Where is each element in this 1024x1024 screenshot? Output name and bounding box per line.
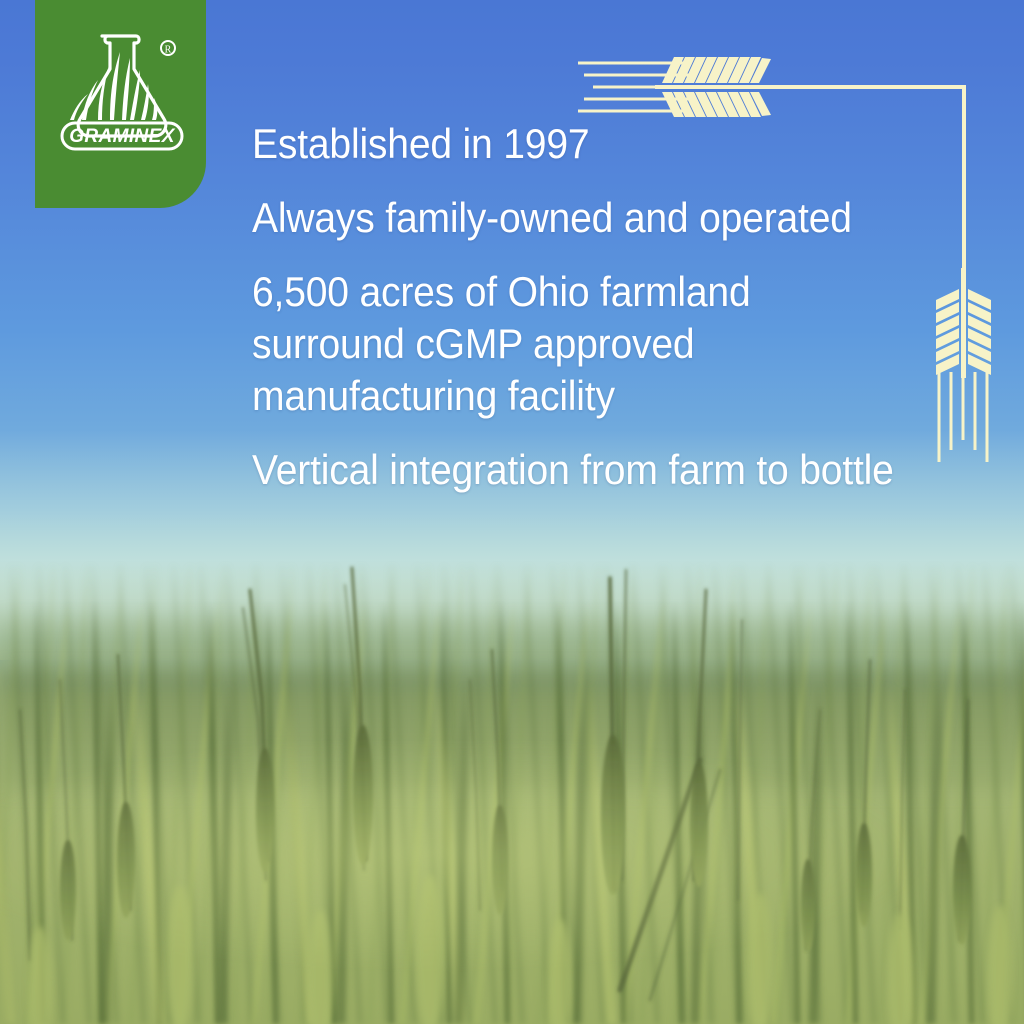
field-sun-glow [0, 740, 1024, 1024]
fact-established: Established in 1997 [252, 118, 903, 170]
fact-acreage: 6,500 acres of Ohio farmland surround cG… [252, 266, 903, 422]
brand-name-text: GRAMINEX [69, 126, 176, 147]
fact-vertical-integration: Vertical integration from farm to bottle [252, 444, 903, 496]
registered-trademark-icon: R [161, 41, 175, 56]
brand-logo-badge[interactable]: GRAMINEX R [35, 0, 206, 208]
wheat-field-photo [0, 560, 1024, 1024]
promo-graphic-canvas: GRAMINEX R Established in 1997 Always fa… [0, 0, 1024, 1024]
fact-family-owned: Always family-owned and operated [252, 192, 903, 244]
brand-name-banner: GRAMINEX [62, 123, 182, 149]
facts-list: Established in 1997 Always family-owned … [252, 118, 952, 496]
svg-text:R: R [165, 45, 172, 56]
erlenmeyer-flask-with-grass-icon: GRAMINEX R [52, 28, 192, 163]
